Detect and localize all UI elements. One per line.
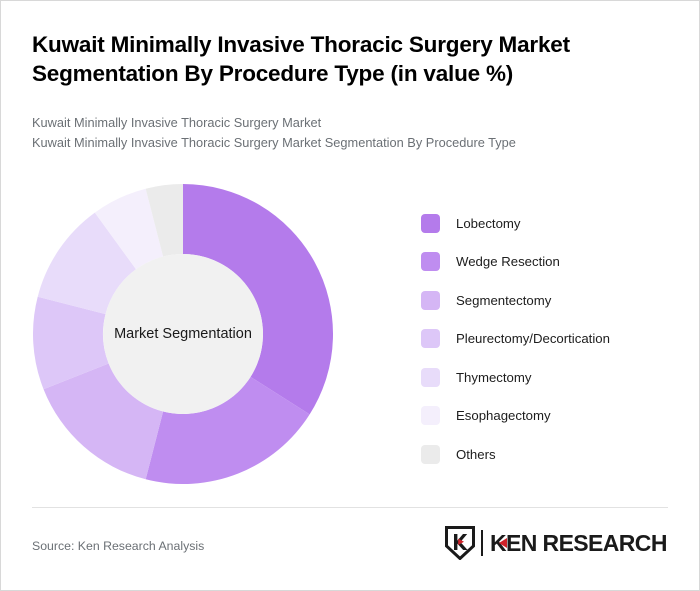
chart-card-inner: Kuwait Minimally Invasive Thoracic Surge… — [1, 1, 699, 590]
legend-swatch — [421, 252, 440, 271]
legend-label: Thymectomy — [456, 370, 531, 385]
legend-label: Segmentectomy — [456, 293, 551, 308]
page-title: Kuwait Minimally Invasive Thoracic Surge… — [32, 30, 650, 88]
legend-label: Others — [456, 447, 496, 462]
donut-hole — [103, 254, 263, 414]
subtitle-line-1: Kuwait Minimally Invasive Thoracic Surge… — [32, 113, 652, 133]
legend-swatch — [421, 406, 440, 425]
legend-label: Esophagectomy — [456, 408, 551, 423]
legend-swatch — [421, 214, 440, 233]
legend-item[interactable]: Pleurectomy/Decortication — [421, 320, 671, 359]
chart-card: Kuwait Minimally Invasive Thoracic Surge… — [0, 0, 700, 591]
ken-research-wordmark: K EN RESEARCH — [490, 530, 667, 557]
subtitle-line-2: Kuwait Minimally Invasive Thoracic Surge… — [32, 133, 652, 153]
donut-chart-svg — [33, 184, 333, 484]
legend-label: Pleurectomy/Decortication — [456, 331, 610, 346]
legend-swatch — [421, 368, 440, 387]
source-note: Source: Ken Research Analysis — [32, 539, 204, 553]
footer-divider — [32, 507, 668, 508]
chart-legend: LobectomyWedge ResectionSegmentectomyPle… — [421, 204, 671, 474]
legend-swatch — [421, 445, 440, 464]
legend-label: Wedge Resection — [456, 254, 560, 269]
logo-red-triangle-icon — [499, 538, 507, 548]
legend-item[interactable]: Esophagectomy — [421, 397, 671, 436]
legend-item[interactable]: Segmentectomy — [421, 281, 671, 320]
logo-letter-k: K — [490, 530, 506, 557]
ken-research-shield-icon — [445, 526, 475, 560]
legend-item[interactable]: Wedge Resection — [421, 243, 671, 282]
logo-divider — [481, 530, 483, 556]
legend-item[interactable]: Lobectomy — [421, 204, 671, 243]
legend-swatch — [421, 291, 440, 310]
legend-label: Lobectomy — [456, 216, 521, 231]
legend-swatch — [421, 329, 440, 348]
ken-research-logo: K EN RESEARCH — [445, 525, 667, 561]
logo-word-rest: EN RESEARCH — [506, 530, 667, 557]
legend-item[interactable]: Others — [421, 435, 671, 474]
legend-item[interactable]: Thymectomy — [421, 358, 671, 397]
chart-subtitle: Kuwait Minimally Invasive Thoracic Surge… — [32, 113, 652, 153]
donut-chart: Market Segmentation — [33, 184, 333, 484]
